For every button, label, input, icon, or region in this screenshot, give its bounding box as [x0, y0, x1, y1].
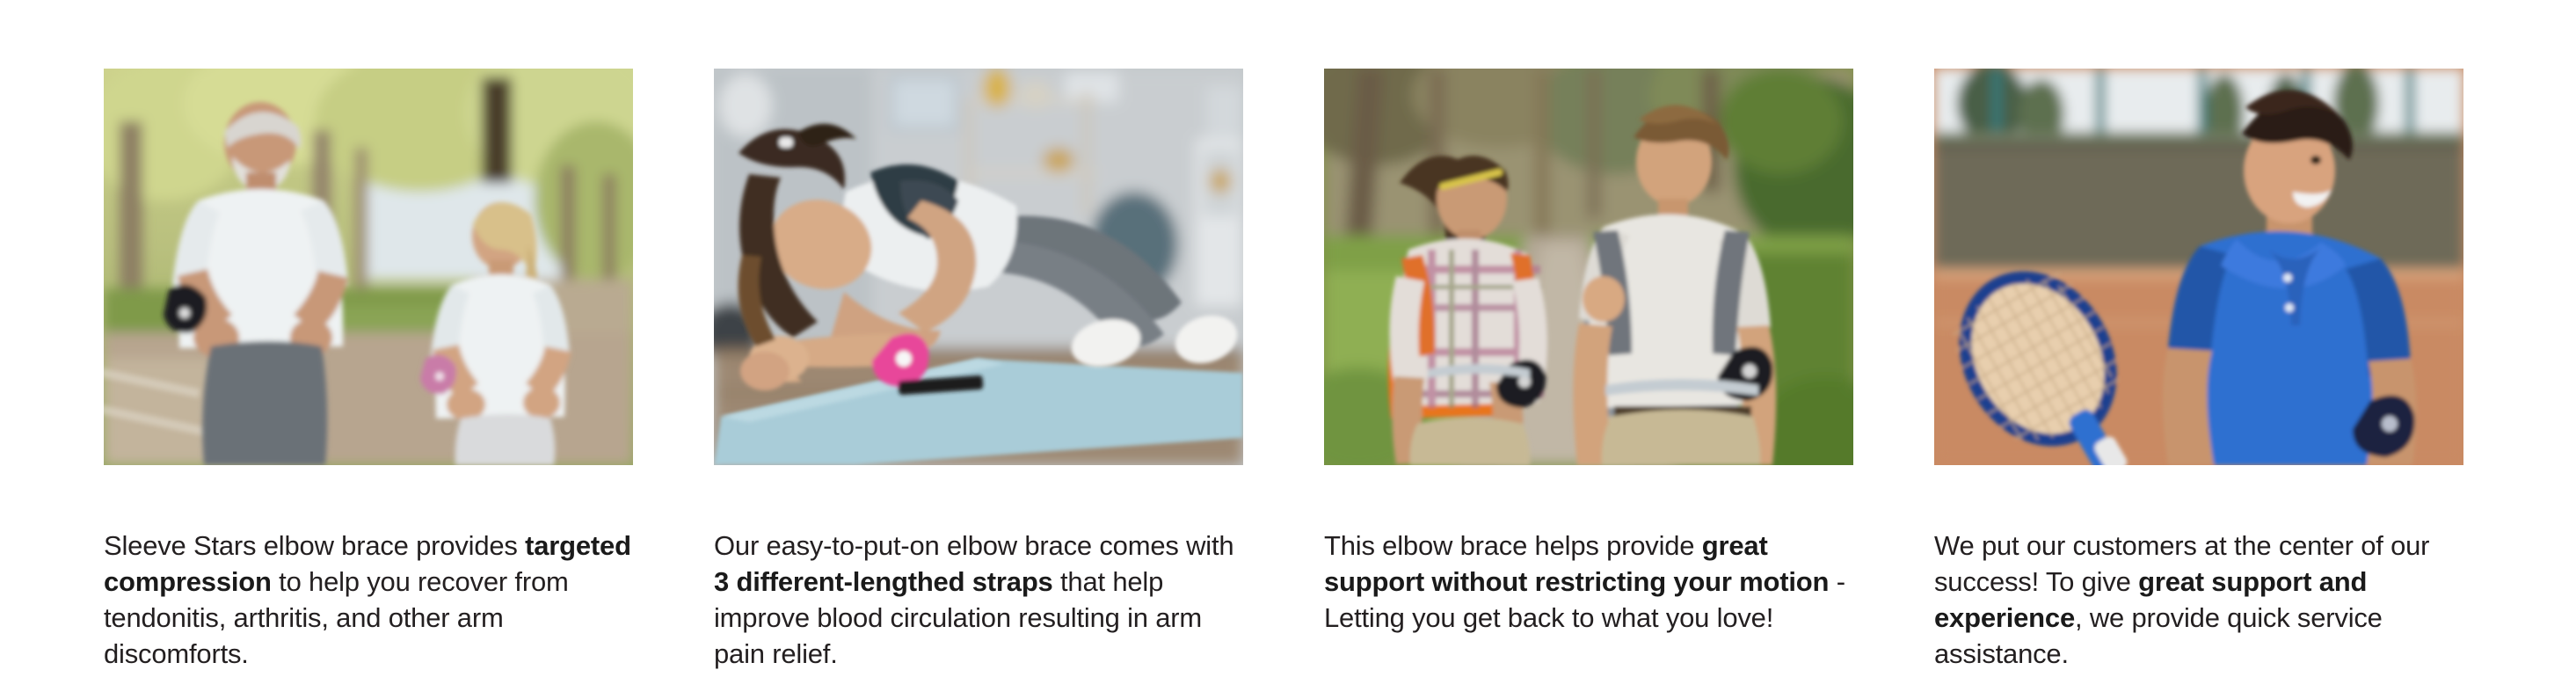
- feature-caption-1: Sleeve Stars elbow brace provides target…: [104, 528, 649, 672]
- senior-couple-jogging-park-photo: [104, 69, 633, 465]
- feature-column-1: Sleeve Stars elbow brace provides target…: [104, 69, 633, 699]
- feature-caption-4: We put our customers at the center of ou…: [1934, 528, 2479, 672]
- caption-2-part-1: 3 different-lengthed straps: [714, 566, 1053, 597]
- feature-caption-2: Our easy-to-put-on elbow brace comes wit…: [714, 528, 1241, 672]
- feature-grid-page: Sleeve Stars elbow brace provides target…: [0, 0, 2576, 691]
- feature-columns: Sleeve Stars elbow brace provides target…: [104, 69, 2457, 699]
- woman-plank-yoga-mat-indoor-photo: [714, 69, 1243, 465]
- tennis-player-clay-court-photo: [1934, 69, 2463, 465]
- feature-column-3: This elbow brace helps provide great sup…: [1324, 69, 1853, 663]
- caption-1-part-0: Sleeve Stars elbow brace provides: [104, 530, 525, 561]
- feature-column-2: Our easy-to-put-on elbow brace comes wit…: [714, 69, 1243, 699]
- caption-2-part-0: Our easy-to-put-on elbow brace comes wit…: [714, 530, 1233, 561]
- feature-caption-3: This elbow brace helps provide great sup…: [1324, 528, 1874, 636]
- feature-column-4: We put our customers at the center of ou…: [1934, 69, 2463, 699]
- couple-hiking-forest-trail-photo: [1324, 69, 1853, 465]
- caption-3-part-0: This elbow brace helps provide: [1324, 530, 1702, 561]
